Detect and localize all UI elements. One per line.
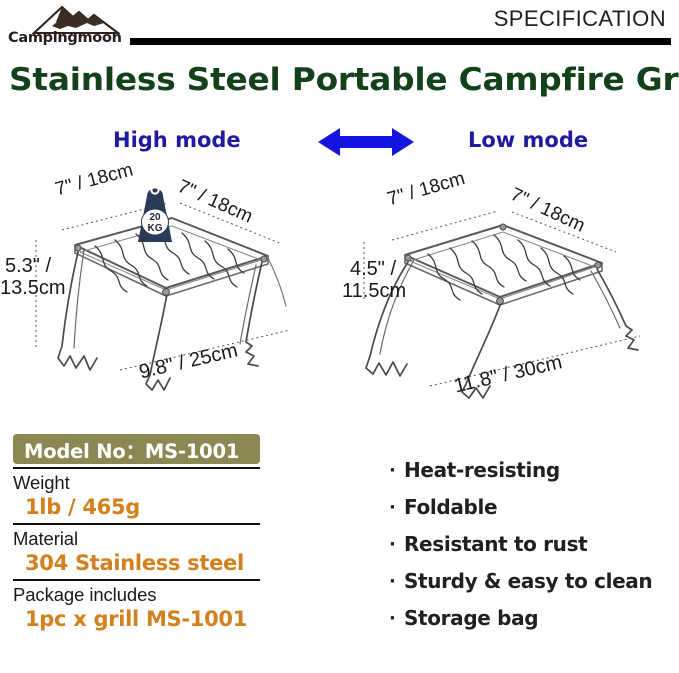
svg-text:20: 20: [149, 212, 161, 223]
feature-label: Foldable: [404, 489, 497, 526]
bullet-icon: ·: [389, 563, 404, 600]
model-number-badge: Model No：MS-1001: [13, 434, 260, 464]
svg-text:KG: KG: [148, 223, 163, 234]
dim-low-height-1: 4.5" /: [350, 258, 396, 281]
features-list: · Heat-resisting · Foldable · Resistant …: [389, 452, 674, 637]
spec-value-package: 1pc x grill MS-1001: [13, 606, 275, 633]
specification-table: Model No：MS-1001 Weight 1lb / 465g Mater…: [13, 434, 275, 635]
brand-name: Campingmoon: [8, 31, 126, 46]
diagram-high-mode: 20 KG 7" / 18cm 7" / 18cm 5.3" / 13.5cm …: [0, 170, 340, 410]
high-mode-label: High mode: [113, 128, 241, 152]
feature-item: · Foldable: [389, 489, 674, 526]
bullet-icon: ·: [389, 600, 404, 637]
spec-row-package: Package includes 1pc x grill MS-1001: [13, 581, 275, 635]
feature-item: · Sturdy & easy to clean: [389, 563, 674, 600]
diagram-low-mode: 7" / 18cm 7" / 18cm 4.5" / 11.5cm 11.8" …: [340, 170, 679, 410]
header: Campingmoon SPECIFICATION: [0, 0, 679, 60]
feature-label: Storage bag: [404, 600, 538, 637]
header-divider: [130, 38, 671, 45]
spec-value-material: 304 Stainless steel: [13, 550, 275, 577]
bullet-icon: ·: [389, 489, 404, 526]
section-label: SPECIFICATION: [494, 6, 666, 32]
spec-key-material: Material: [13, 528, 275, 550]
dim-low-height-2: 11.5cm: [342, 280, 406, 303]
feature-label: Heat-resisting: [404, 452, 560, 489]
feature-label: Sturdy & easy to clean: [404, 563, 652, 600]
weight-badge-icon: 20 KG: [138, 186, 172, 242]
bullet-icon: ·: [389, 526, 404, 563]
double-arrow-horizontal-icon: [318, 125, 414, 159]
dim-high-height-1: 5.3" /: [5, 255, 51, 278]
feature-label: Resistant to rust: [404, 526, 587, 563]
brand-logo: Campingmoon: [8, 4, 126, 52]
spec-key-weight: Weight: [13, 472, 275, 494]
feature-item: · Heat-resisting: [389, 452, 674, 489]
spec-key-package: Package includes: [13, 584, 275, 606]
page-title: Stainless Steel Portable Campfire Grill: [9, 60, 679, 100]
feature-item: · Resistant to rust: [389, 526, 674, 563]
dim-high-height-2: 13.5cm: [0, 277, 66, 300]
spec-sheet: Campingmoon SPECIFICATION Stainless Stee…: [0, 0, 679, 673]
spec-row-weight: Weight 1lb / 465g: [13, 469, 275, 523]
spec-row-material: Material 304 Stainless steel: [13, 525, 275, 579]
low-mode-label: Low mode: [468, 128, 588, 152]
feature-item: · Storage bag: [389, 600, 674, 637]
spec-value-weight: 1lb / 465g: [13, 494, 275, 521]
bullet-icon: ·: [389, 452, 404, 489]
